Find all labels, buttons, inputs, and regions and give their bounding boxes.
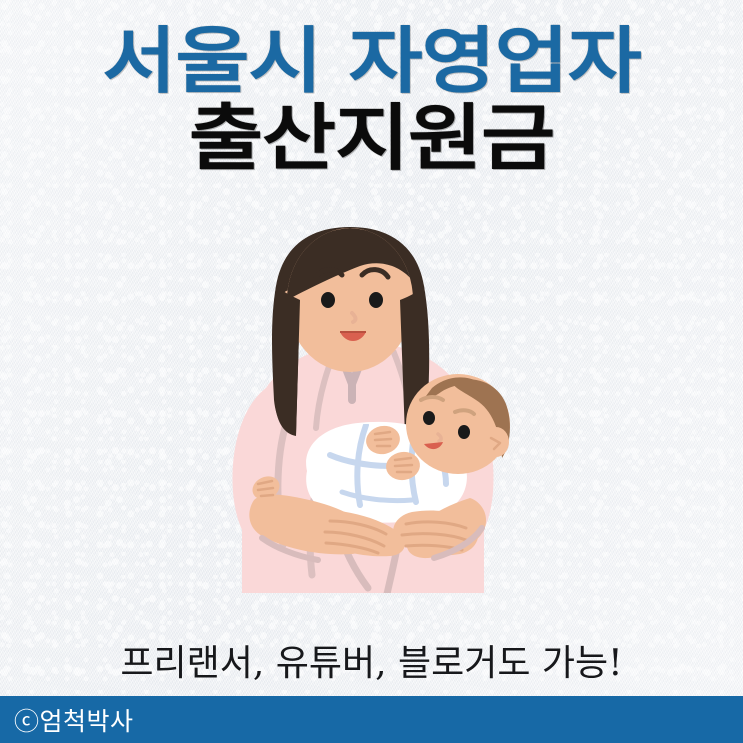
poster-canvas: 서울시 자영업자 출산지원금 프리랜서, 유튜버, 블로거도 가능! ⓒ엄척박사 bbox=[0, 0, 743, 743]
title-line-2: 출산지원금 bbox=[0, 103, 743, 174]
footer-credit-text: ⓒ엄척박사 bbox=[14, 702, 134, 738]
baby-eye-left bbox=[423, 411, 435, 425]
poster-subtitle: 프리랜서, 유튜버, 블로거도 가능! bbox=[0, 634, 743, 686]
title-line-1: 서울시 자영업자 bbox=[0, 26, 743, 97]
mother-hair-front-left bbox=[273, 286, 300, 436]
mother-eye-right bbox=[369, 292, 383, 308]
poster-title: 서울시 자영업자 출산지원금 bbox=[0, 26, 743, 173]
baby-head-group bbox=[406, 374, 510, 474]
mother-eye-left bbox=[321, 292, 335, 308]
footer-bar: ⓒ엄척박사 bbox=[0, 696, 743, 743]
baby-eye-right bbox=[458, 425, 470, 439]
